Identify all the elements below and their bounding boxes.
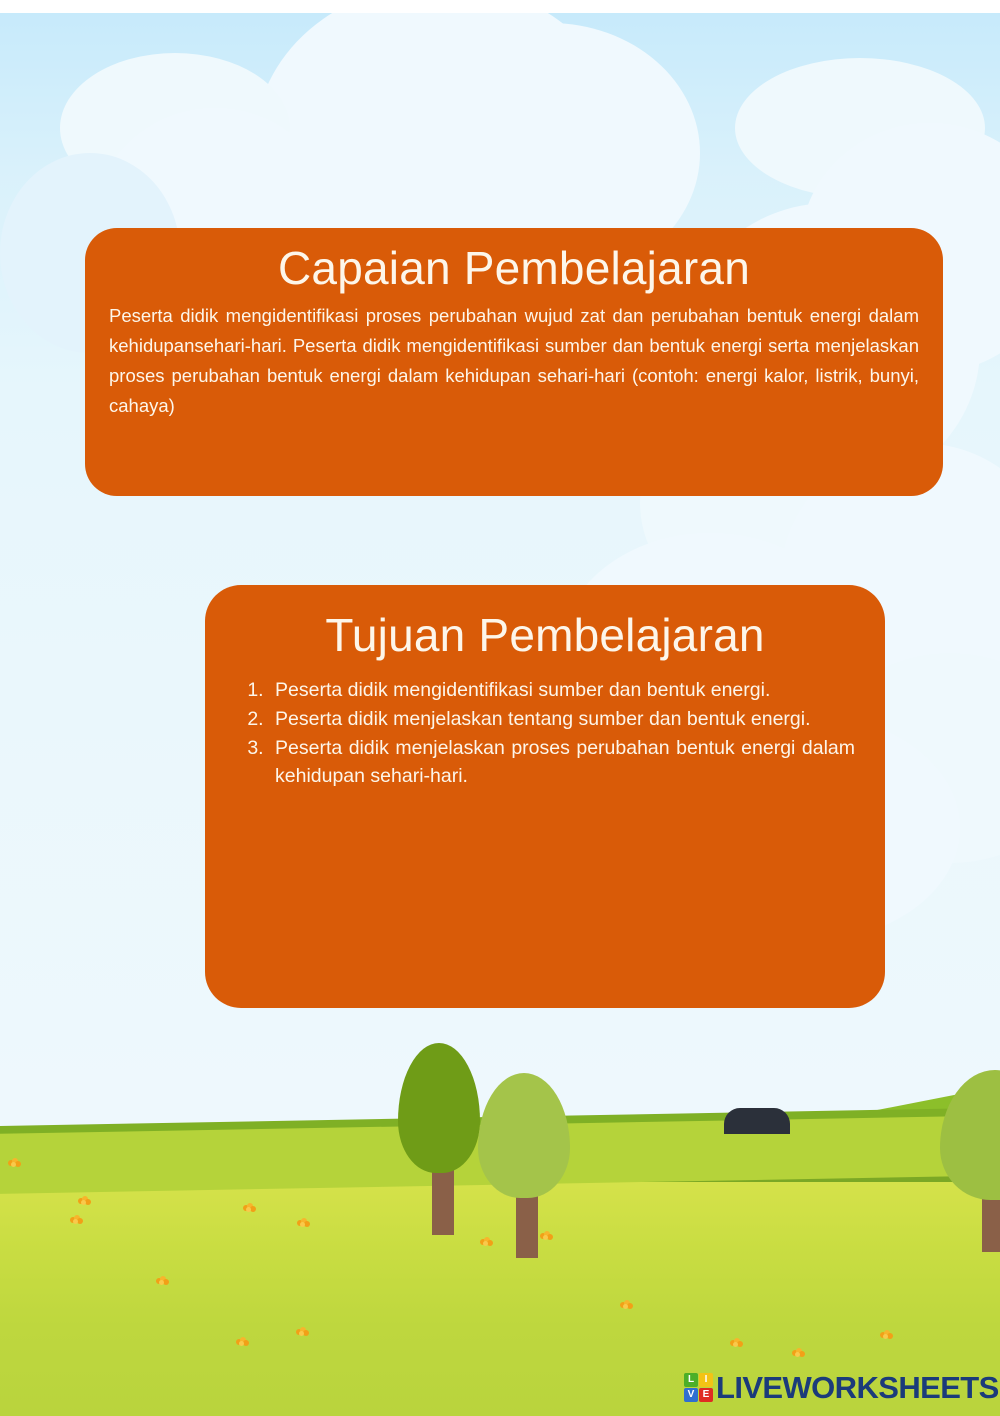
logo-tile-e: E (699, 1388, 713, 1402)
learning-objectives-list: Peserta didik mengidentifikasi sumber da… (229, 676, 861, 790)
card-capaian-body: Peserta didik mengidentifikasi proses pe… (107, 301, 921, 421)
logo-tile-i: I (699, 1373, 713, 1387)
card-capaian-pembelajaran: Capaian Pembelajaran Peserta didik mengi… (85, 228, 943, 496)
logo-tile-v: V (684, 1388, 698, 1402)
learning-objective-item: Peserta didik mengidentifikasi sumber da… (269, 676, 855, 704)
card-capaian-title: Capaian Pembelajaran (107, 242, 921, 295)
worksheet-page: Capaian Pembelajaran Peserta didik mengi… (0, 0, 1000, 1416)
liveworksheets-logo[interactable]: L I V E LIVEWORKSHEETS (684, 1368, 999, 1406)
card-tujuan-title: Tujuan Pembelajaran (229, 609, 861, 662)
ground-scene (0, 1086, 1000, 1416)
liveworksheets-wordmark: LIVEWORKSHEETS (716, 1372, 999, 1403)
liveworksheets-letter-tiles: L I V E (684, 1373, 713, 1402)
top-white-strip (0, 0, 1000, 13)
learning-objective-item: Peserta didik menjelaskan tentang sumber… (269, 705, 855, 733)
card-tujuan-pembelajaran: Tujuan Pembelajaran Peserta didik mengid… (205, 585, 885, 1008)
logo-tile-l: L (684, 1373, 698, 1387)
learning-objective-item: Peserta didik menjelaskan proses perubah… (269, 734, 855, 790)
